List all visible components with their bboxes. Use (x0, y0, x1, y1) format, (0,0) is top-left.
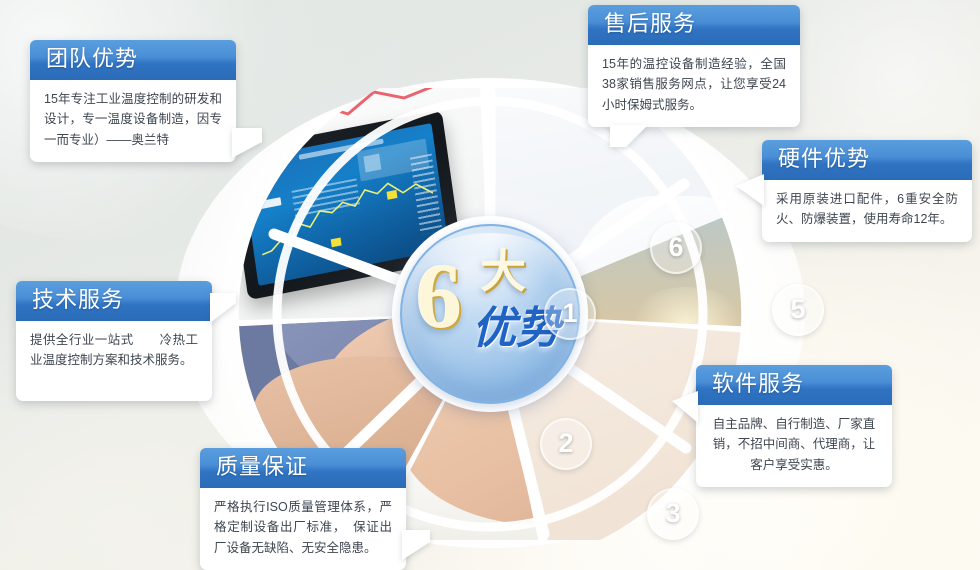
card-title-quality: 质量保证 (200, 448, 406, 488)
badge-2[interactable]: 2 (540, 418, 592, 470)
callout-tail-quality (402, 530, 430, 560)
center-big-label: 大 (480, 248, 526, 294)
badge-6[interactable]: 6 (650, 222, 702, 274)
center-number: 6 (416, 250, 462, 342)
card-body-hardware: 采用原装进口配件，6重安全防火、防爆装置，使用寿命12年。 (762, 180, 972, 242)
callout-card-tech[interactable]: 技术服务 提供全行业一站式 冷热工业温度控制方案和技术服务。 (16, 281, 212, 401)
callout-tail-software (672, 391, 698, 423)
callout-tail-after-sales (610, 125, 648, 147)
callout-tail-tech (210, 293, 236, 323)
card-body-software: 自主品牌、自行制造、厂家直销，不招中间商、代理商，让客户享受实惠。 (696, 405, 892, 487)
card-body-tech: 提供全行业一站式 冷热工业温度控制方案和技术服务。 (16, 321, 212, 401)
callout-card-after-sales[interactable]: 售后服务 15年的温控设备制造经验，全国38家销售服务网点，让您享受24小时保姆… (588, 5, 800, 127)
card-body-quality: 严格执行ISO质量管理体系，严格定制设备出厂标准， 保证出厂设备无缺陷、无安全隐… (200, 488, 406, 570)
card-title-after-sales: 售后服务 (588, 5, 800, 45)
badge-1[interactable]: 1 (544, 288, 596, 340)
callout-card-quality[interactable]: 质量保证 严格执行ISO质量管理体系，严格定制设备出厂标准， 保证出厂设备无缺陷… (200, 448, 406, 570)
callout-card-team[interactable]: 团队优势 15年专注工业温度控制的研发和设计，专一温度设备制造，因专一而专业）—… (30, 40, 236, 162)
card-body-team: 15年专注工业温度控制的研发和设计，专一温度设备制造，因专一而专业）——奥兰特 (30, 80, 236, 162)
callout-tail-team (232, 128, 262, 158)
card-title-tech: 技术服务 (16, 281, 212, 321)
callout-tail-hardware (736, 174, 764, 206)
callout-card-software[interactable]: 软件服务 自主品牌、自行制造、厂家直销，不招中间商、代理商，让客户享受实惠。 (696, 365, 892, 487)
badge-5[interactable]: 5 (772, 284, 824, 336)
badge-3[interactable]: 3 (647, 488, 699, 540)
card-title-software: 软件服务 (696, 365, 892, 405)
card-title-team: 团队优势 (30, 40, 236, 80)
callout-card-hardware[interactable]: 硬件优势 采用原装进口配件，6重安全防火、防爆装置，使用寿命12年。 (762, 140, 972, 242)
infographic-canvas: 6 大 优势 1 2 3 4 5 6 团队优势 15年专注工业温度控制的研发和设… (0, 0, 980, 570)
card-title-hardware: 硬件优势 (762, 140, 972, 180)
card-body-after-sales: 15年的温控设备制造经验，全国38家销售服务网点，让您享受24小时保姆式服务。 (588, 45, 800, 127)
